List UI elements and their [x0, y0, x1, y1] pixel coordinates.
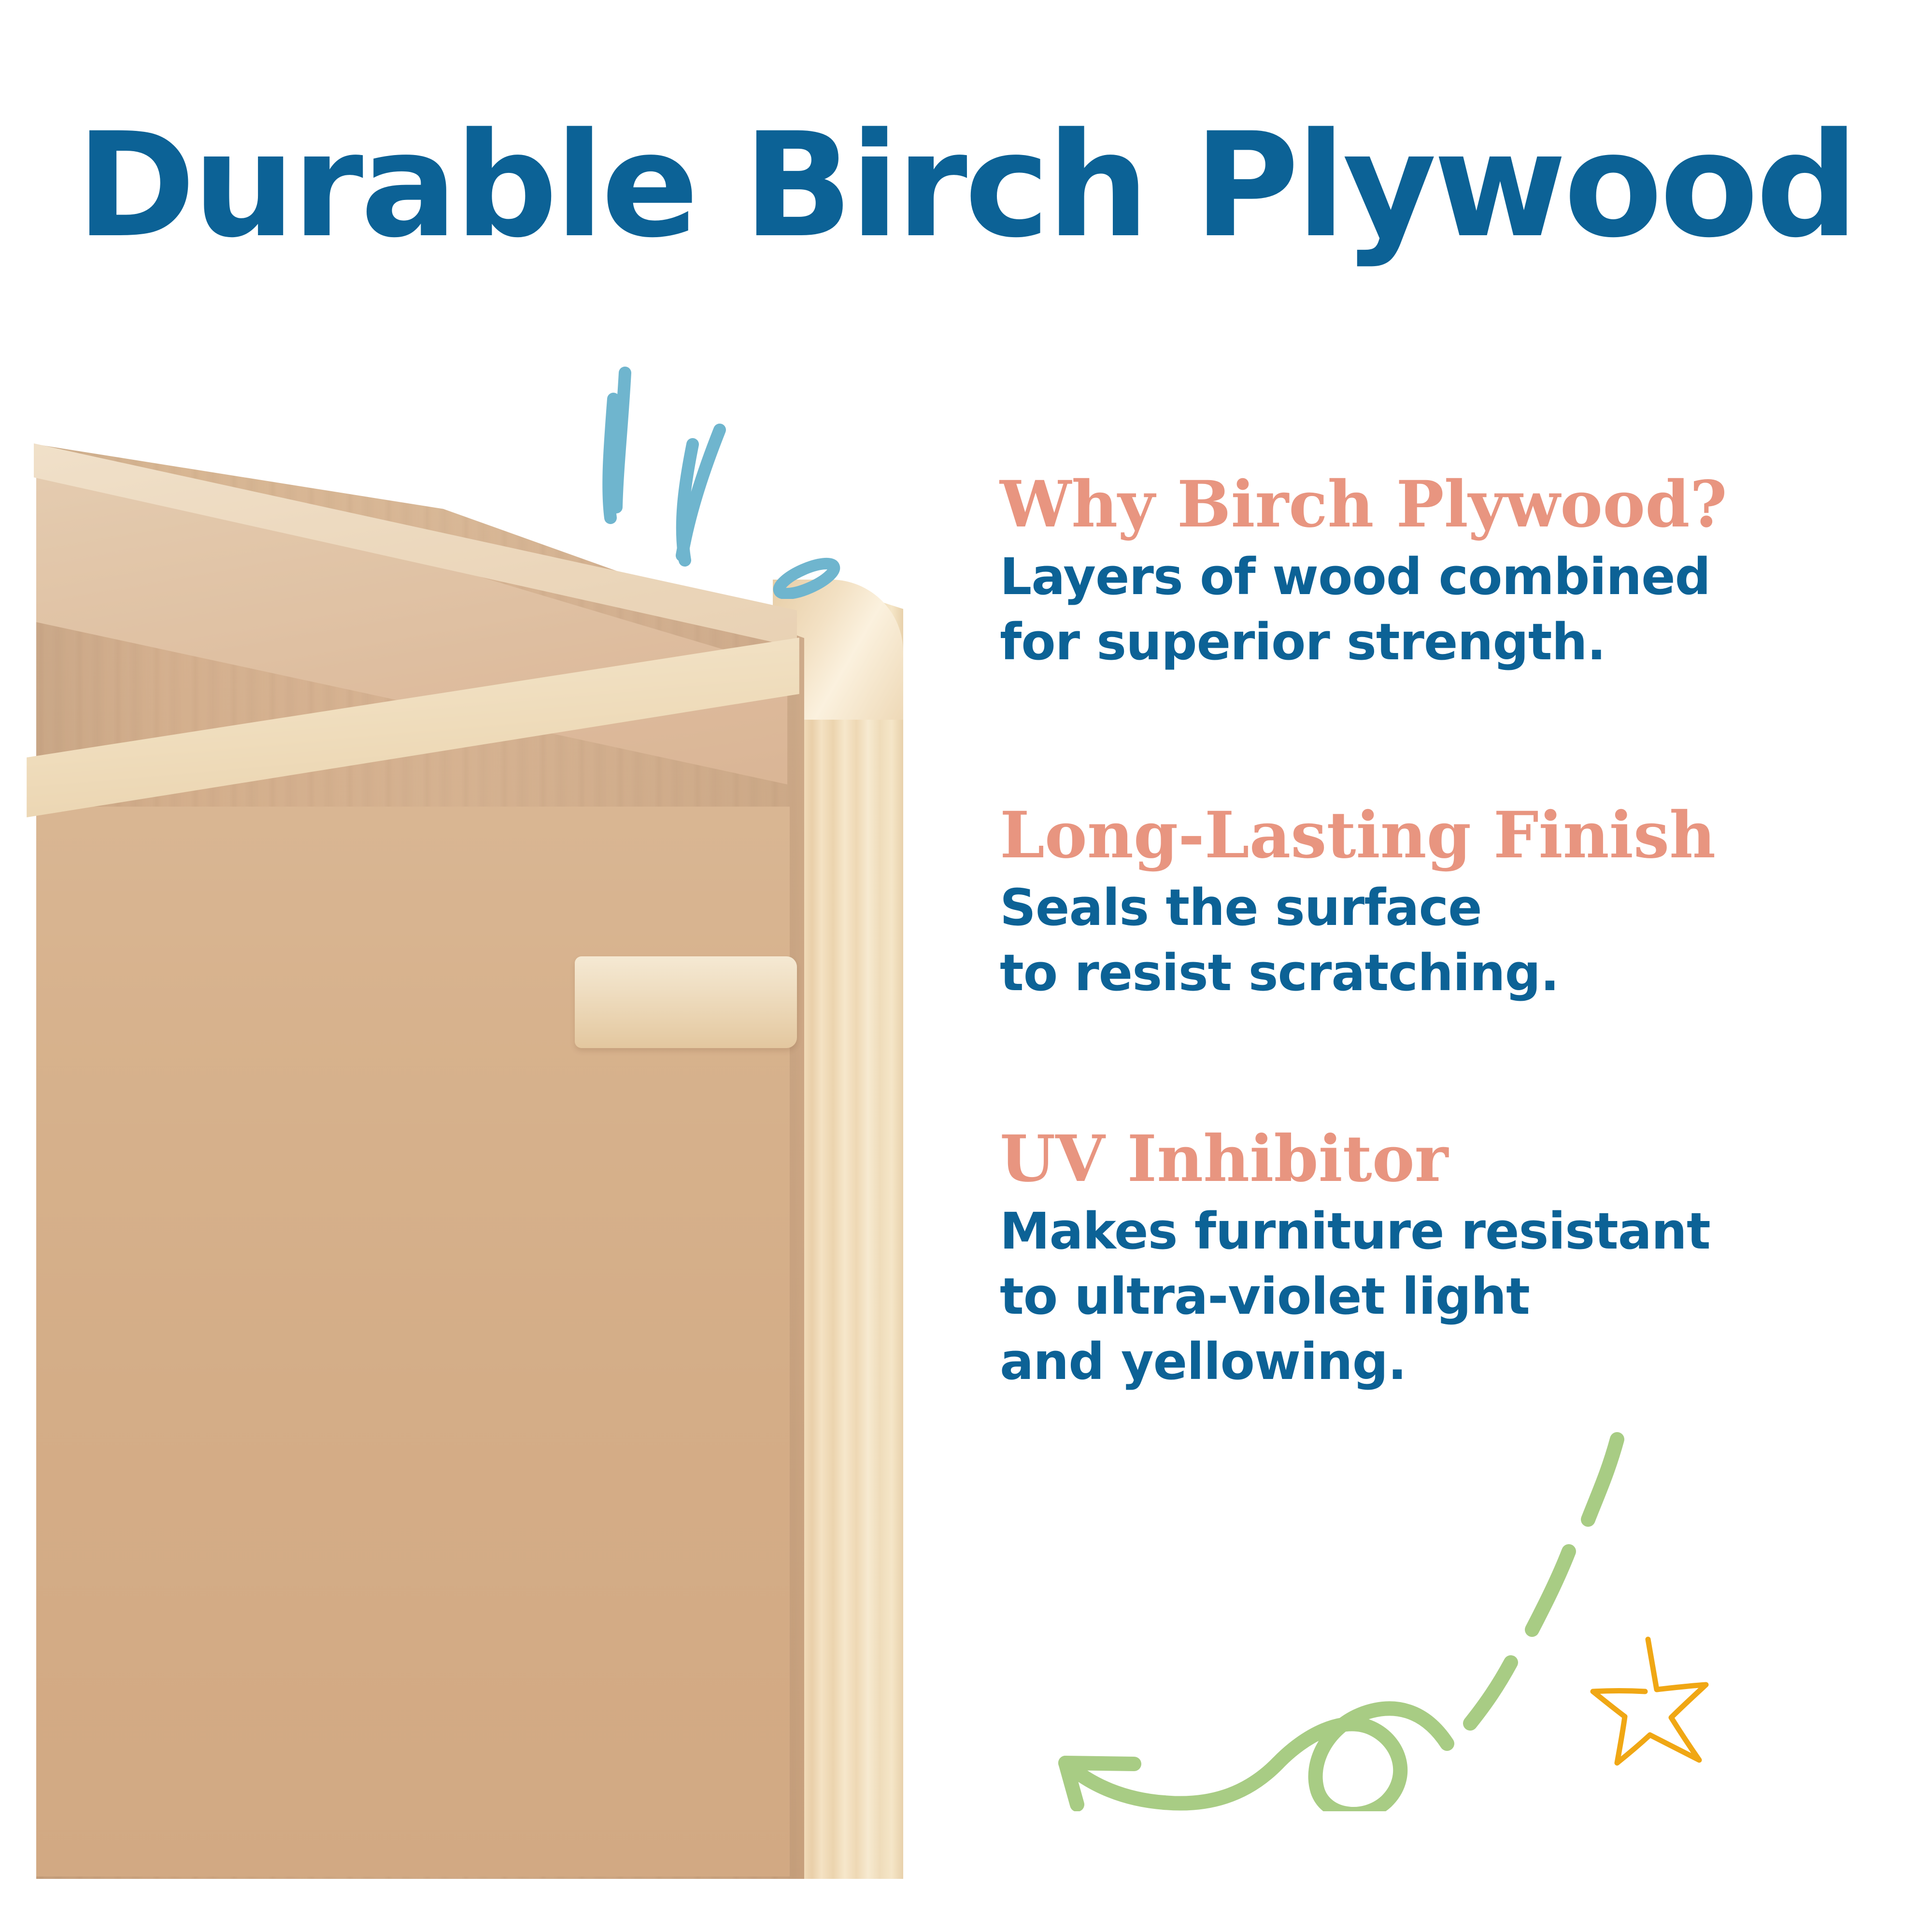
feature-body-line: Seals the surface: [1000, 875, 1869, 940]
feature-heading: UV Inhibitor: [1000, 1125, 1869, 1193]
feature-body-line: to resist scratching.: [1000, 940, 1869, 1006]
feature-body-line: Layers of wood combined: [1000, 544, 1869, 610]
infographic-page: Durable Birch Plywood: [0, 0, 1932, 1932]
feature-body-line: Makes furniture resistant: [1000, 1199, 1869, 1264]
feature-block-why-birch-plywood: Why Birch Plywood? Layers of wood combin…: [1000, 471, 1869, 675]
feature-block-uv-inhibitor: UV Inhibitor Makes furniture resistant t…: [1000, 1125, 1869, 1394]
feature-body: Seals the surface to resist scratching.: [1000, 875, 1869, 1006]
wood-stage: [0, 435, 918, 1889]
feature-body: Layers of wood combined for superior str…: [1000, 544, 1869, 675]
feature-body-line: for superior strength.: [1000, 610, 1869, 675]
orange-star-doodle: [1575, 1623, 1729, 1777]
green-curved-arrow-doodle: [1005, 1425, 1642, 1811]
feature-body-line: and yellowing.: [1000, 1329, 1869, 1394]
page-title: Durable Birch Plywood: [0, 114, 1932, 258]
feature-heading: Long-Lasting Finish: [1000, 802, 1869, 869]
product-image-birch-plywood-corner: [0, 435, 918, 1889]
feature-body-line: to ultra-violet light: [1000, 1264, 1869, 1329]
feature-body: Makes furniture resistant to ultra-viole…: [1000, 1199, 1869, 1395]
feature-block-long-lasting-finish: Long-Lasting Finish Seals the surface to…: [1000, 802, 1869, 1006]
plywood-support-batten: [575, 956, 797, 1048]
feature-heading: Why Birch Plywood?: [1000, 471, 1869, 539]
